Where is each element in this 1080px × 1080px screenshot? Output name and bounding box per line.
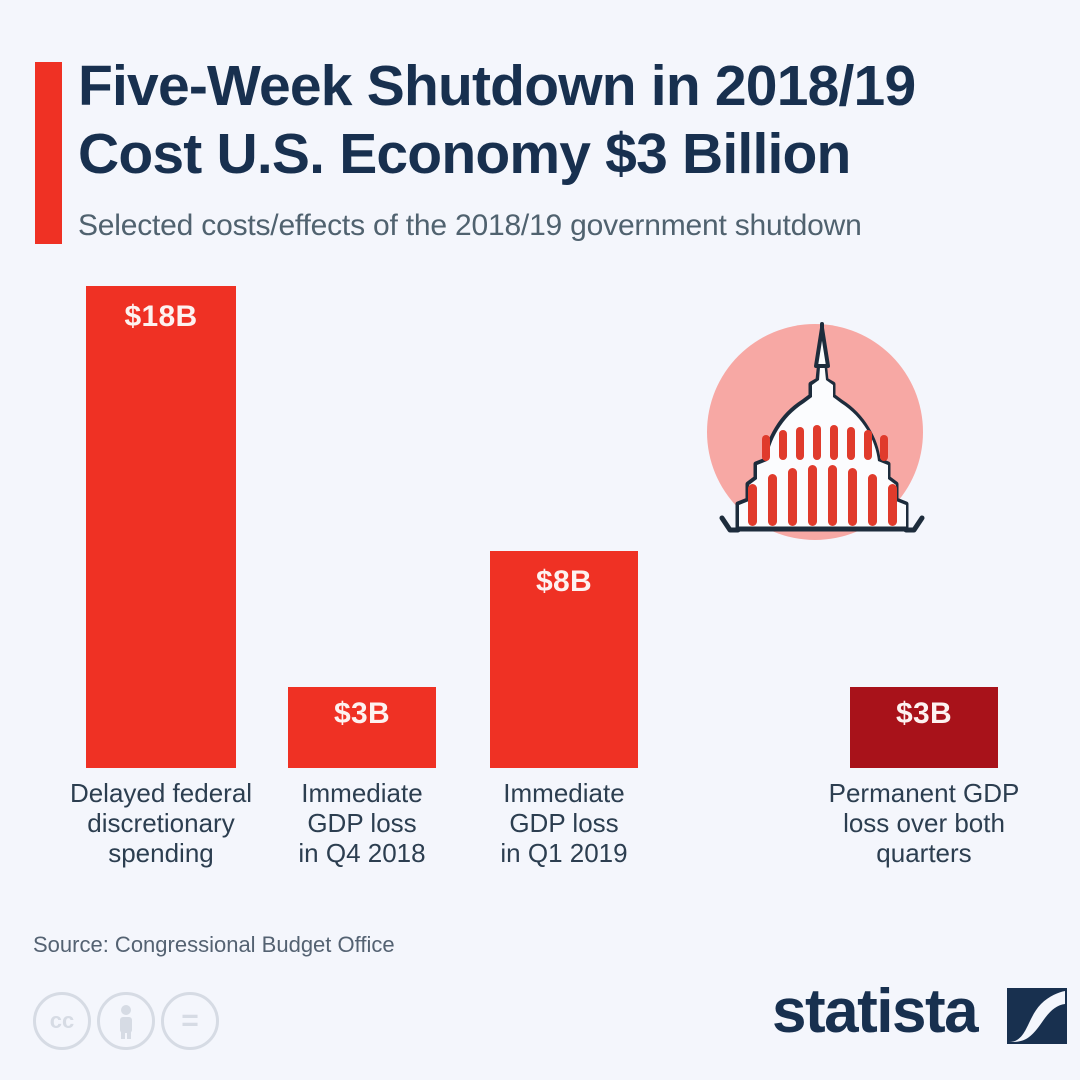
- category-line: in Q1 2019: [454, 838, 674, 868]
- bar-immediate-gdp-loss-q4-2018[interactable]: $3B: [288, 687, 436, 768]
- bar-category-label-2: Immediate GDP loss in Q4 2018: [252, 778, 472, 868]
- category-line: loss over both: [810, 808, 1038, 838]
- bar-permanent-gdp-loss-both-quarters[interactable]: $3B: [850, 687, 998, 768]
- cc-glyph: cc: [36, 1010, 88, 1032]
- category-line: Delayed federal: [46, 778, 276, 808]
- bar-category-label-1: Delayed federal discretionary spending: [46, 778, 276, 868]
- bar-value-label: $3B: [288, 697, 436, 731]
- category-line: GDP loss: [454, 808, 674, 838]
- bar-value-label: $8B: [490, 565, 638, 599]
- category-line: spending: [46, 838, 276, 868]
- cc-no-derivatives-icon[interactable]: =: [161, 992, 219, 1050]
- bar-immediate-gdp-loss-q1-2019[interactable]: $8B: [490, 551, 638, 768]
- bar-category-label-3: Immediate GDP loss in Q1 2019: [454, 778, 674, 868]
- bar-value-label: $3B: [850, 697, 998, 731]
- source-note: Source: Congressional Budget Office: [33, 932, 395, 958]
- nd-glyph: =: [164, 1006, 216, 1036]
- category-line: in Q4 2018: [252, 838, 472, 868]
- category-line: discretionary: [46, 808, 276, 838]
- infographic-canvas: Five-Week Shutdown in 2018/19 Cost U.S. …: [0, 0, 1080, 1080]
- bar-value-label: $18B: [86, 300, 236, 334]
- category-line: Permanent GDP: [810, 778, 1038, 808]
- category-line: quarters: [810, 838, 1038, 868]
- category-line: Immediate: [454, 778, 674, 808]
- category-line: GDP loss: [252, 808, 472, 838]
- bar-delayed-federal-discretionary-spending[interactable]: $18B: [86, 286, 236, 768]
- creative-commons-icon[interactable]: cc: [33, 992, 91, 1050]
- statista-logo-mark: [1007, 988, 1067, 1044]
- us-capitol-dome-icon: [700, 318, 940, 558]
- bar-category-label-4: Permanent GDP loss over both quarters: [810, 778, 1038, 868]
- cc-attribution-icon[interactable]: [97, 992, 155, 1050]
- statista-wordmark: statista: [772, 980, 977, 1044]
- category-line: Immediate: [252, 778, 472, 808]
